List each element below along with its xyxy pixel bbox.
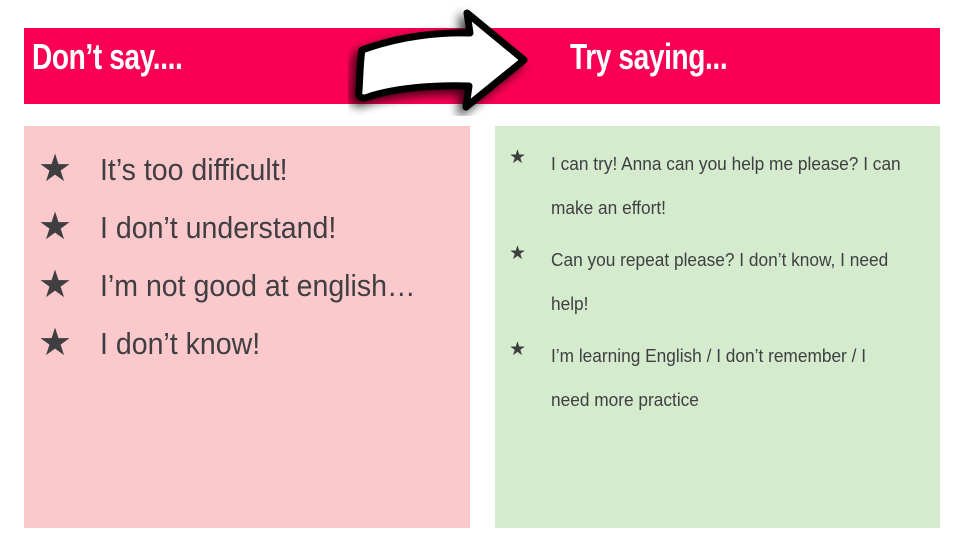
slide-root: { "headers": { "left": "Don’t say....", … <box>0 0 961 542</box>
star-icon: ★ <box>32 208 100 246</box>
try-saying-panel: ★ I can try! Anna can you help me please… <box>495 126 940 528</box>
star-icon: ★ <box>32 266 100 304</box>
list-item: ★ I’m learning English / I don’t remembe… <box>509 334 918 422</box>
list-item: ★ Can you repeat please? I don’t know, I… <box>509 238 918 326</box>
list-item: ★ I don’t know! <box>32 324 452 364</box>
dont-say-list: ★ It’s too difficult! ★ I don’t understa… <box>24 126 470 364</box>
list-item-label: I’m not good at english… <box>100 266 416 306</box>
try-saying-list: ★ I can try! Anna can you help me please… <box>495 126 940 422</box>
dont-say-panel: ★ It’s too difficult! ★ I don’t understa… <box>24 126 470 528</box>
list-item: ★ I can try! Anna can you help me please… <box>509 142 918 230</box>
star-icon: ★ <box>32 150 100 188</box>
star-icon: ★ <box>509 334 551 359</box>
list-item-label: I’m learning English / I don’t remember … <box>551 334 903 422</box>
list-item: ★ It’s too difficult! <box>32 150 452 190</box>
list-item-label: Can you repeat please? I don’t know, I n… <box>551 238 903 326</box>
list-item-label: It’s too difficult! <box>100 150 288 190</box>
list-item: ★ I’m not good at english… <box>32 266 452 306</box>
list-item-label: I don’t understand! <box>100 208 336 248</box>
star-icon: ★ <box>509 142 551 167</box>
star-icon: ★ <box>32 324 100 362</box>
list-item-label: I can try! Anna can you help me please? … <box>551 142 903 230</box>
page-title-try-saying: Try saying... <box>570 36 727 78</box>
page-title-dont-say: Don’t say.... <box>32 36 182 78</box>
list-item-label: I don’t know! <box>100 324 260 364</box>
list-item: ★ I don’t understand! <box>32 208 452 248</box>
star-icon: ★ <box>509 238 551 263</box>
